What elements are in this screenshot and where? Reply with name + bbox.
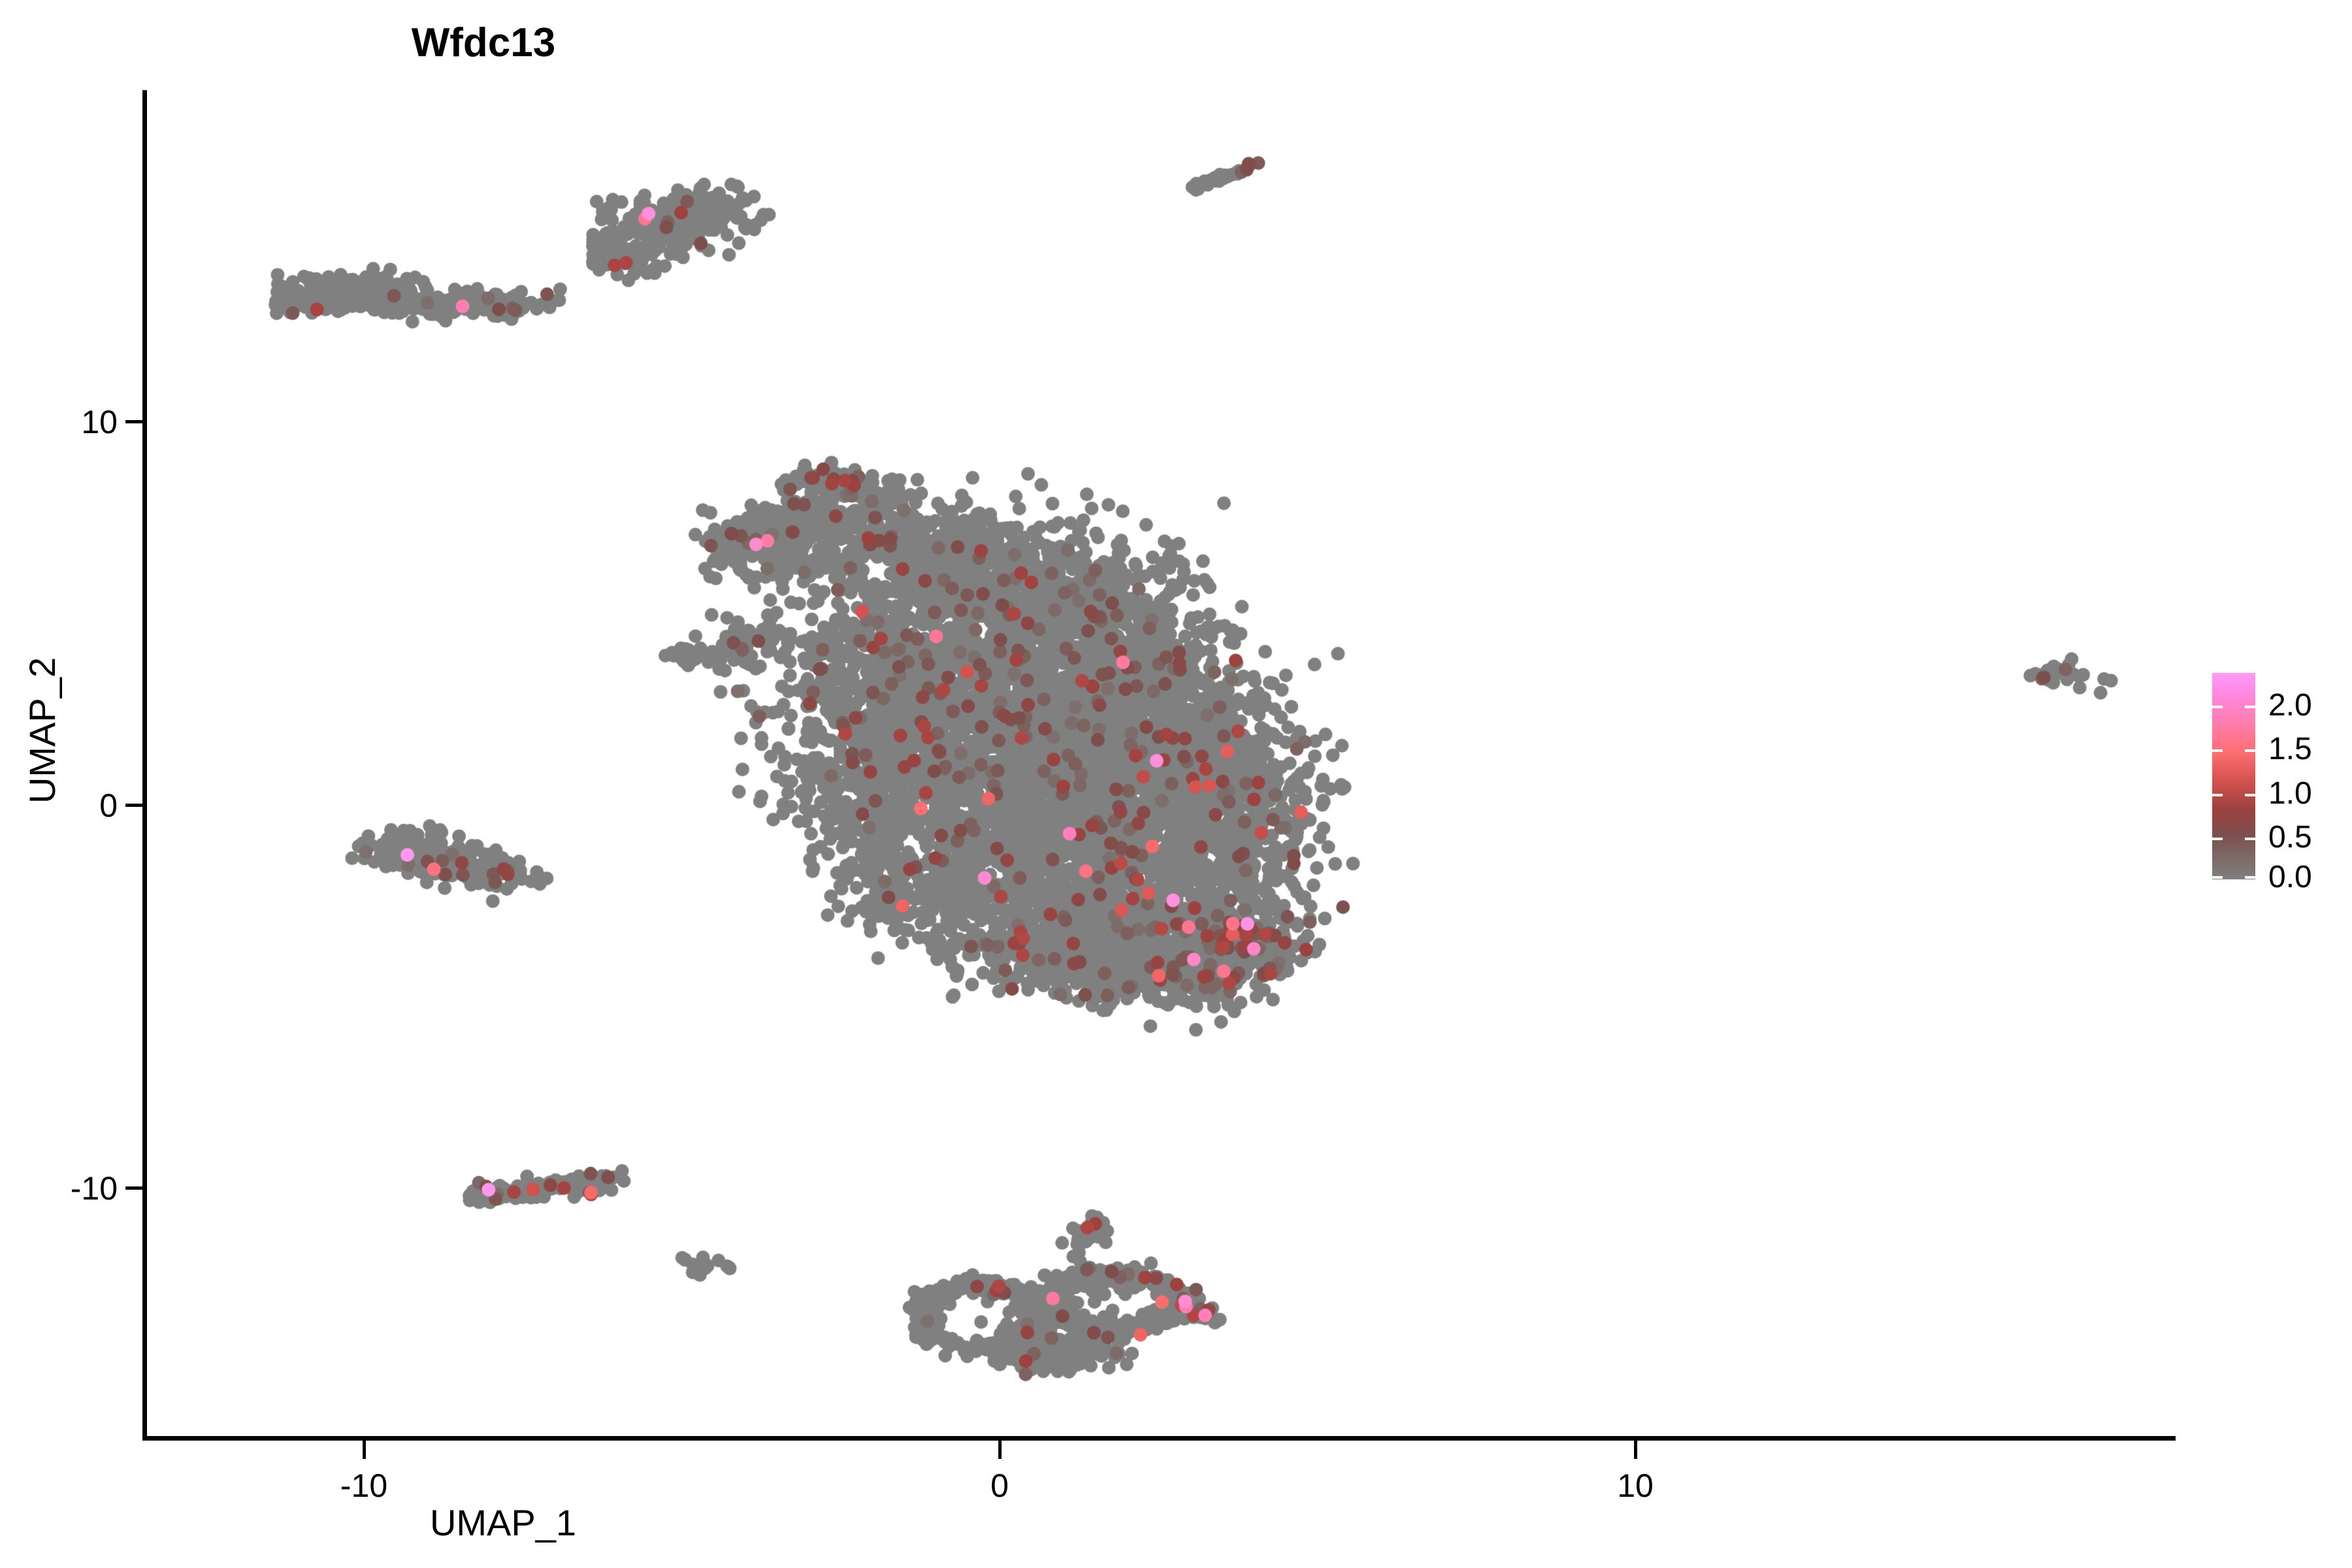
y-axis-label: UMAP_2 bbox=[21, 632, 63, 828]
legend-label-2.0: 2.0 bbox=[2268, 687, 2312, 723]
colorbar-tick-right-0.5 bbox=[2245, 838, 2255, 840]
y-axis-label-text: UMAP_2 bbox=[22, 657, 63, 804]
colorbar-tick-right-1.0 bbox=[2245, 794, 2255, 796]
y-tick-label--10: -10 bbox=[0, 1169, 118, 1207]
colorbar-tick-left-2.0 bbox=[2212, 706, 2223, 708]
colorbar-tick-right-0.0 bbox=[2245, 876, 2255, 879]
x-tick-label--10: -10 bbox=[259, 1467, 468, 1505]
colorbar-tick-left-1.0 bbox=[2212, 794, 2223, 796]
x-axis-label-text: UMAP_1 bbox=[430, 1501, 576, 1544]
legend-label-0.5: 0.5 bbox=[2268, 819, 2312, 855]
colorbar-tick-right-2.0 bbox=[2245, 706, 2255, 708]
chart-root: Wfdc13 10 0 -10 -10 0 10 UMAP_1 UMAP_2 2… bbox=[0, 0, 2352, 1568]
legend-label-0.0: 0.0 bbox=[2268, 859, 2312, 895]
y-tick--10 bbox=[125, 1186, 144, 1190]
colorbar-tick-left-0.5 bbox=[2212, 838, 2223, 840]
y-axis-line bbox=[142, 90, 147, 1440]
x-tick-0 bbox=[998, 1441, 1002, 1459]
legend-label-1.0: 1.0 bbox=[2268, 776, 2312, 811]
legend-label-1.5: 1.5 bbox=[2268, 731, 2312, 767]
x-tick-label-0: 0 bbox=[895, 1467, 1104, 1505]
colorbar-tick-left-1.5 bbox=[2212, 749, 2223, 752]
y-tick-10 bbox=[125, 420, 144, 423]
y-tick-label-10: 10 bbox=[0, 403, 118, 441]
colorbar-gradient bbox=[2212, 673, 2255, 879]
x-axis-line bbox=[142, 1436, 2176, 1441]
x-tick-10 bbox=[1634, 1441, 1637, 1459]
chart-title: Wfdc13 bbox=[0, 20, 2352, 66]
plot-panel bbox=[147, 91, 2172, 1436]
x-tick-label-10: 10 bbox=[1531, 1467, 1740, 1505]
x-axis-label: UMAP_1 bbox=[0, 1501, 2352, 1544]
x-tick--10 bbox=[363, 1441, 366, 1459]
colorbar-tick-right-1.5 bbox=[2245, 749, 2255, 752]
scatter-points-canvas bbox=[147, 91, 2172, 1436]
colorbar-tick-left-0.0 bbox=[2212, 876, 2223, 879]
legend-colorbar: 2.0 1.5 1.0 0.5 0.0 bbox=[2212, 673, 2255, 879]
y-tick-0 bbox=[125, 804, 144, 807]
chart-title-text: Wfdc13 bbox=[412, 20, 555, 66]
